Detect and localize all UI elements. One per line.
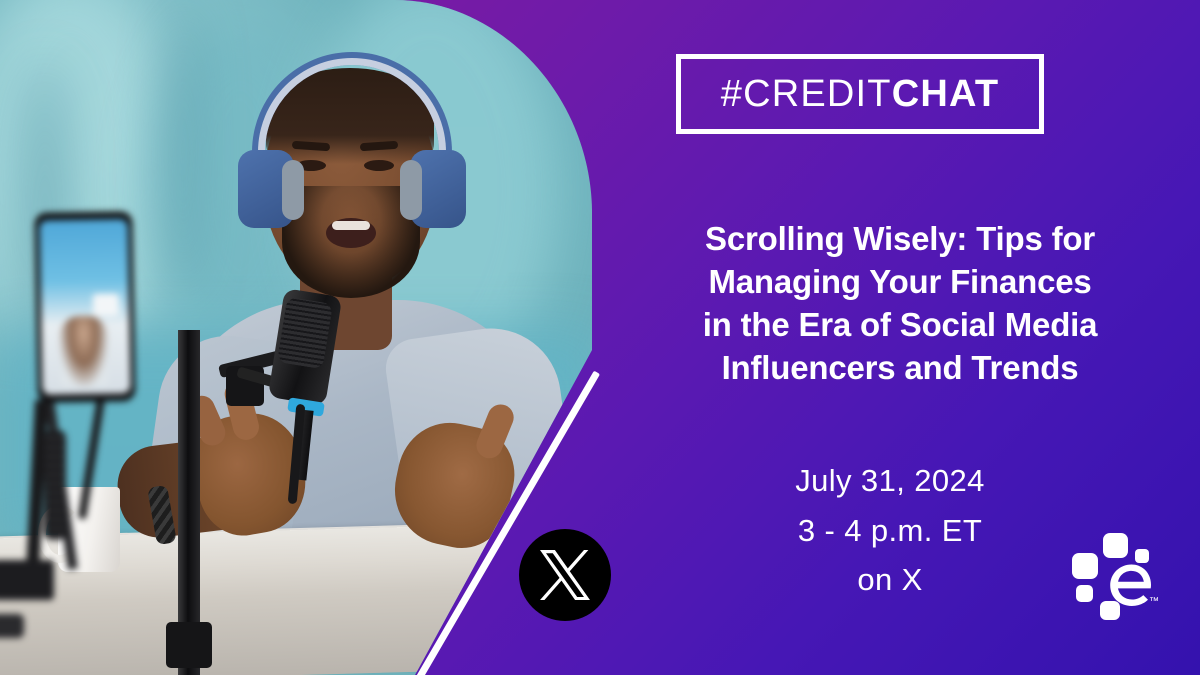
logo-square-left-upper	[1072, 553, 1098, 579]
promo-graphic: #CREDITCHAT Scrolling Wisely: Tips for M…	[0, 0, 1200, 675]
headline-line-3: in the Era of Social Media	[640, 304, 1160, 347]
x-twitter-icon	[540, 550, 590, 600]
tripod-base-box	[0, 560, 54, 600]
x-logo-badge[interactable]	[519, 529, 611, 621]
person-mouth	[326, 218, 376, 248]
logo-square-top-center	[1103, 533, 1128, 558]
logo-square-top-right	[1135, 549, 1149, 563]
logo-square-left-lower	[1076, 585, 1093, 602]
experian-logo: ™	[1064, 532, 1162, 620]
creditchat-badge-text: #CREDITCHAT	[721, 75, 1000, 113]
experian-e-icon: ™	[1064, 532, 1162, 620]
event-date: July 31, 2024	[690, 456, 1090, 506]
headline: Scrolling Wisely: Tips for Managing Your…	[640, 218, 1160, 390]
logo-square-bottom-center	[1100, 601, 1120, 620]
event-details: July 31, 2024 3 - 4 p.m. ET on X	[690, 456, 1090, 605]
creditchat-hashtag-light: #CREDIT	[721, 73, 892, 115]
headline-line-4: Influencers and Trends	[640, 347, 1160, 390]
creditchat-badge: #CREDITCHAT	[676, 54, 1044, 134]
screen-card	[93, 293, 119, 315]
event-platform: on X	[690, 555, 1090, 605]
trademark-symbol: ™	[1149, 596, 1159, 607]
tripod-spring	[44, 430, 66, 540]
backdrop-blur-shape	[170, 0, 196, 300]
screen-person-preview	[59, 316, 108, 387]
smartphone-screen	[39, 219, 130, 395]
mic-stand-clamp	[166, 622, 212, 668]
headline-line-2: Managing Your Finances	[640, 261, 1160, 304]
headphones-pad-left	[282, 160, 304, 220]
headphones-pad-right	[400, 160, 422, 220]
headline-line-1: Scrolling Wisely: Tips for	[640, 218, 1160, 261]
event-time: 3 - 4 p.m. ET	[690, 506, 1090, 556]
tripod-knob	[0, 614, 24, 638]
creditchat-hashtag-bold: CHAT	[892, 73, 1000, 115]
